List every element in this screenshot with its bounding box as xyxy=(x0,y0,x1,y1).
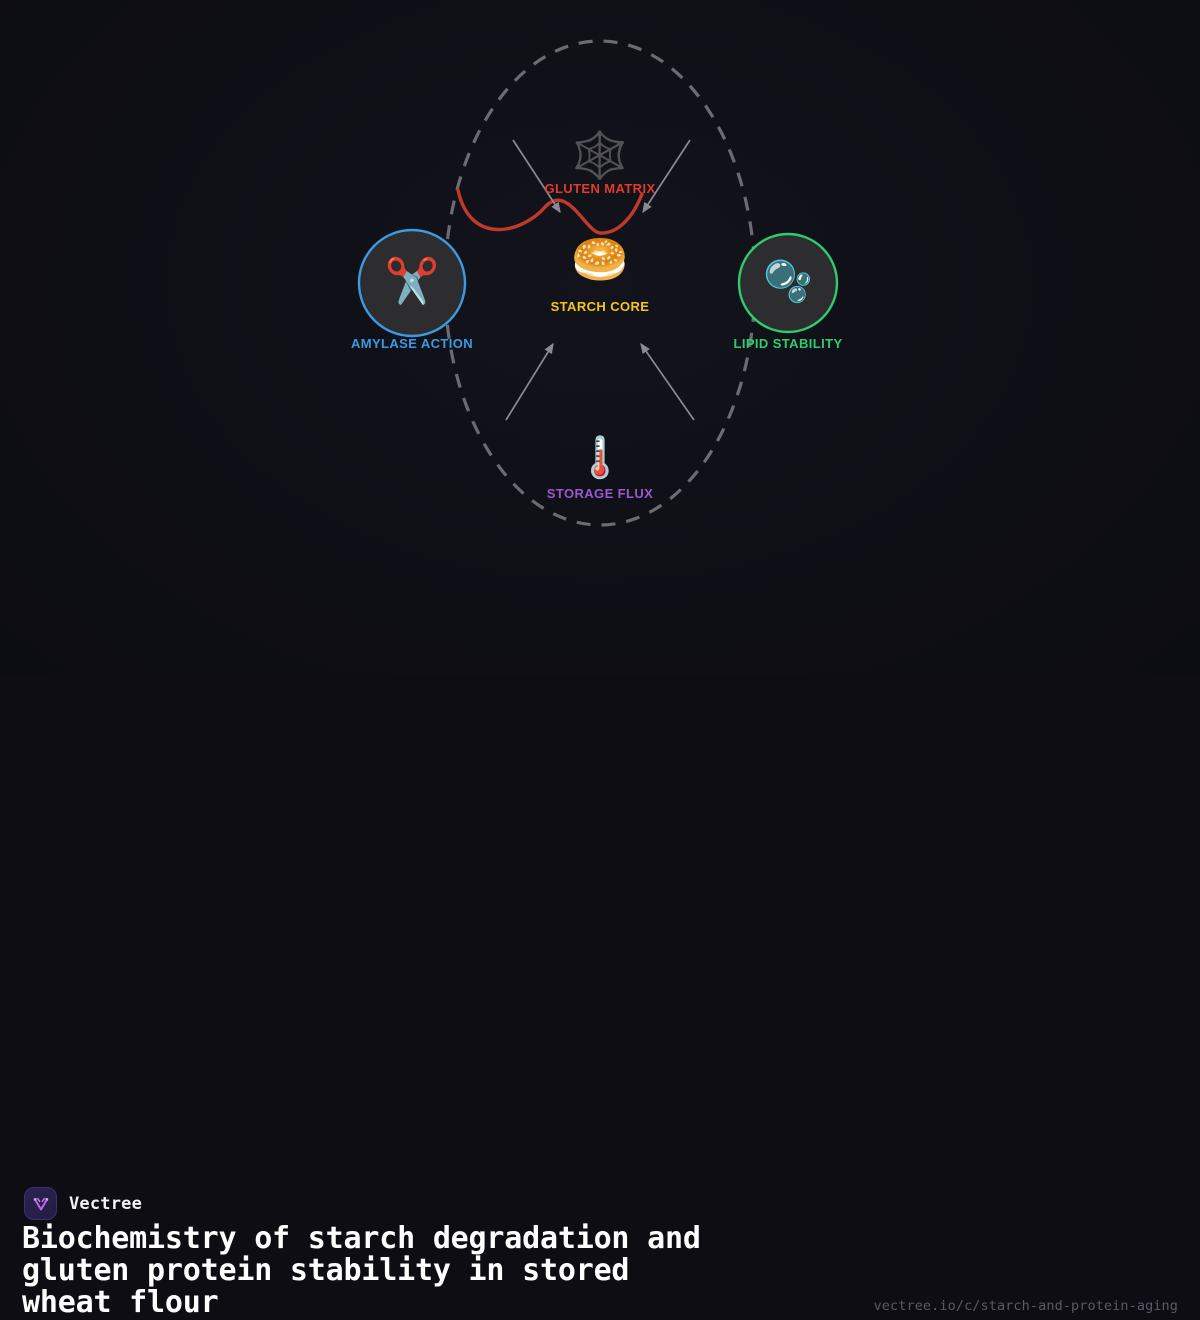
gluten-to-left-curve xyxy=(458,190,546,230)
brand-name: Vectree xyxy=(69,1194,142,1214)
bubbles-icon: 🫧 xyxy=(763,262,813,302)
arrow-upper-left-inward xyxy=(513,140,560,212)
concept-diagram xyxy=(0,0,1200,675)
arrow-upper-right-inward xyxy=(643,140,690,212)
poster-background: 🕸️ 🥯 ✂️ 🫧 🌡️ GLUTEN MATRIX STARCH CORE A… xyxy=(0,0,1200,675)
scissors-icon: ✂️ xyxy=(385,260,440,304)
center-to-right-curve xyxy=(600,194,642,233)
brand-row: Vectree xyxy=(24,1187,142,1220)
vectree-v-logo-icon xyxy=(24,1187,57,1220)
thermometer-icon: 🌡️ xyxy=(575,438,625,478)
page-title: Biochemistry of starch degradation and g… xyxy=(22,1223,862,1319)
source-url: vectree.io/c/starch-and-protein-aging xyxy=(874,1298,1178,1314)
spider-web-icon: 🕸️ xyxy=(571,132,628,178)
bagel-icon[interactable]: 🥯 xyxy=(571,236,628,282)
gluten-to-center-curve xyxy=(546,200,600,233)
arrow-lower-left-inward xyxy=(506,344,553,420)
arrow-lower-right-inward xyxy=(641,344,694,420)
